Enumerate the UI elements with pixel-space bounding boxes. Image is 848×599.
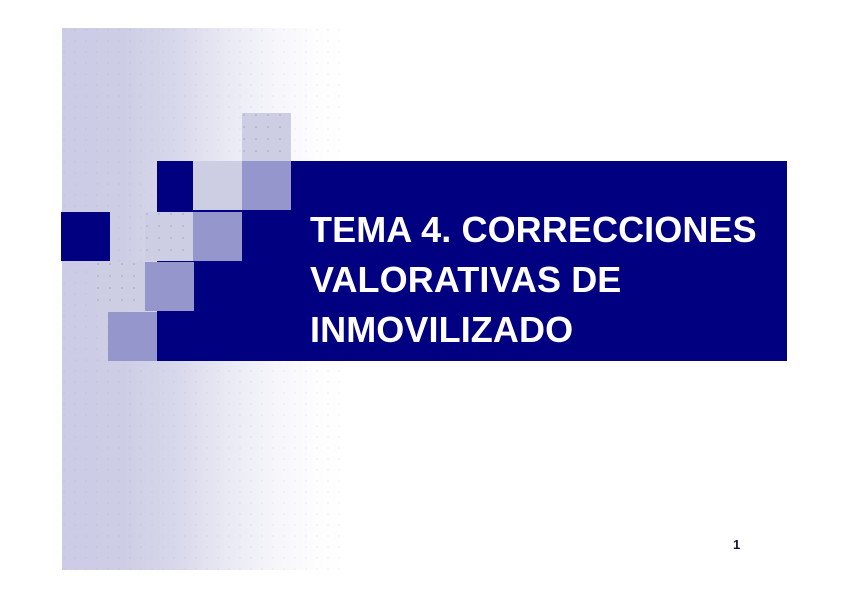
slide-title-line-2: VALORATIVAS DE bbox=[310, 255, 780, 305]
page-number: 1 bbox=[733, 538, 740, 552]
slide-title-line-1: TEMA 4. CORRECCIONES bbox=[310, 205, 780, 255]
square-light-lower-left bbox=[96, 262, 145, 311]
slide-title: TEMA 4. CORRECCIONES VALORATIVAS DE INMO… bbox=[310, 205, 780, 355]
square-medium-lower bbox=[145, 262, 194, 311]
square-navy-left bbox=[61, 212, 110, 261]
square-light-mid-left bbox=[145, 212, 194, 261]
square-dot-texture bbox=[145, 212, 194, 261]
square-medium-bottom bbox=[108, 312, 157, 361]
slide-canvas: TEMA 4. CORRECCIONES VALORATIVAS DE INMO… bbox=[0, 0, 848, 599]
square-light-top bbox=[242, 113, 291, 162]
square-medium-upper bbox=[242, 161, 291, 210]
square-dot-texture bbox=[242, 113, 291, 162]
square-medium-mid bbox=[193, 212, 242, 261]
square-dot-texture bbox=[96, 262, 145, 311]
slide-title-line-3: INMOVILIZADO bbox=[310, 305, 780, 355]
square-light-mid-right bbox=[193, 161, 242, 210]
